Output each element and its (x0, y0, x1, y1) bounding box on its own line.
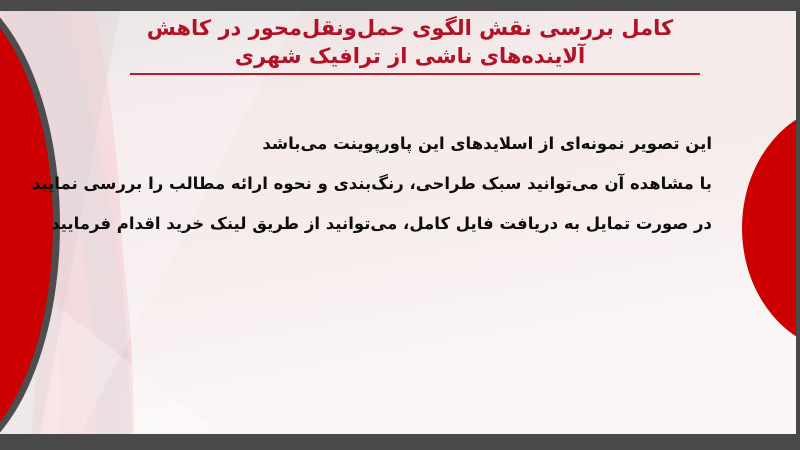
title-underline-rule (130, 73, 700, 75)
body-line-2: با مشاهده آن می‌توانید سبک طراحی، رنگ‌بن… (32, 164, 712, 204)
slide-title-line-1: کامل بررسی نقش الگوی حمل‌ونقل‌محور در کا… (60, 14, 760, 42)
body-line-1: این تصویر نمونه‌ای از اسلایدهای این پاور… (32, 124, 712, 164)
slide-canvas: کامل بررسی نقش الگوی حمل‌ونقل‌محور در کا… (0, 0, 800, 450)
body-line-3: در صورت تمایل به دریافت فایل کامل، می‌تو… (32, 204, 712, 244)
frame-band-bottom (0, 434, 800, 450)
frame-band-right (796, 0, 800, 450)
slide-title-line-2: آلاینده‌های ناشی از ترافیک شهری (60, 42, 760, 70)
frame-band-top (0, 0, 800, 11)
slide-body-text: این تصویر نمونه‌ای از اسلایدهای این پاور… (32, 124, 712, 244)
slide-title: کامل بررسی نقش الگوی حمل‌ونقل‌محور در کا… (60, 14, 760, 70)
